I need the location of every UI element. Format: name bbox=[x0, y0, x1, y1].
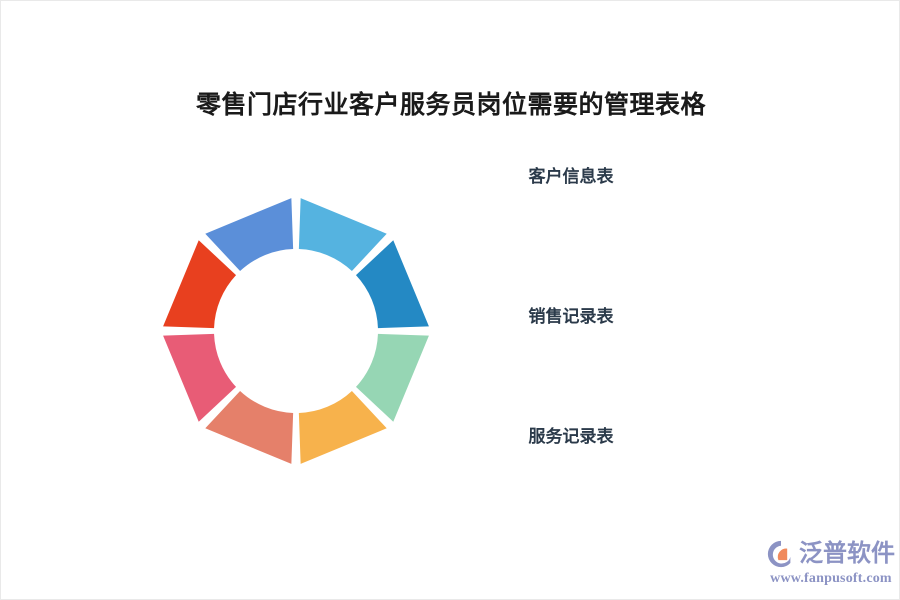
screenshot-canvas: 零售门店行业客户服务员岗位需要的管理表格 客户信息表 销售记录表 服务记录表 泛… bbox=[0, 0, 900, 600]
donut-chart-svg bbox=[151, 186, 441, 476]
chart-label-sales-record-text: 销售记录表 bbox=[529, 307, 614, 326]
brand-logo: 泛普软件 www.fanpusoft.com bbox=[766, 537, 896, 595]
page-title: 零售门店行业客户服务员岗位需要的管理表格 bbox=[1, 85, 900, 121]
donut-segment-group bbox=[163, 198, 429, 464]
chart-label-sales-record: 销售记录表 bbox=[471, 302, 671, 327]
chart-label-service-record: 服务记录表 bbox=[471, 422, 671, 447]
chart-label-service-record-text: 服务记录表 bbox=[529, 427, 614, 446]
chart-label-customer-info: 客户信息表 bbox=[471, 162, 671, 187]
brand-wordmark: 泛普软件 bbox=[799, 539, 895, 569]
chart-label-customer-info-text: 客户信息表 bbox=[529, 167, 614, 186]
fanpu-logo-icon bbox=[766, 539, 796, 569]
donut-chart bbox=[151, 186, 441, 476]
brand-logo-row: 泛普软件 bbox=[766, 537, 896, 571]
brand-url: www.fanpusoft.com bbox=[766, 571, 896, 587]
